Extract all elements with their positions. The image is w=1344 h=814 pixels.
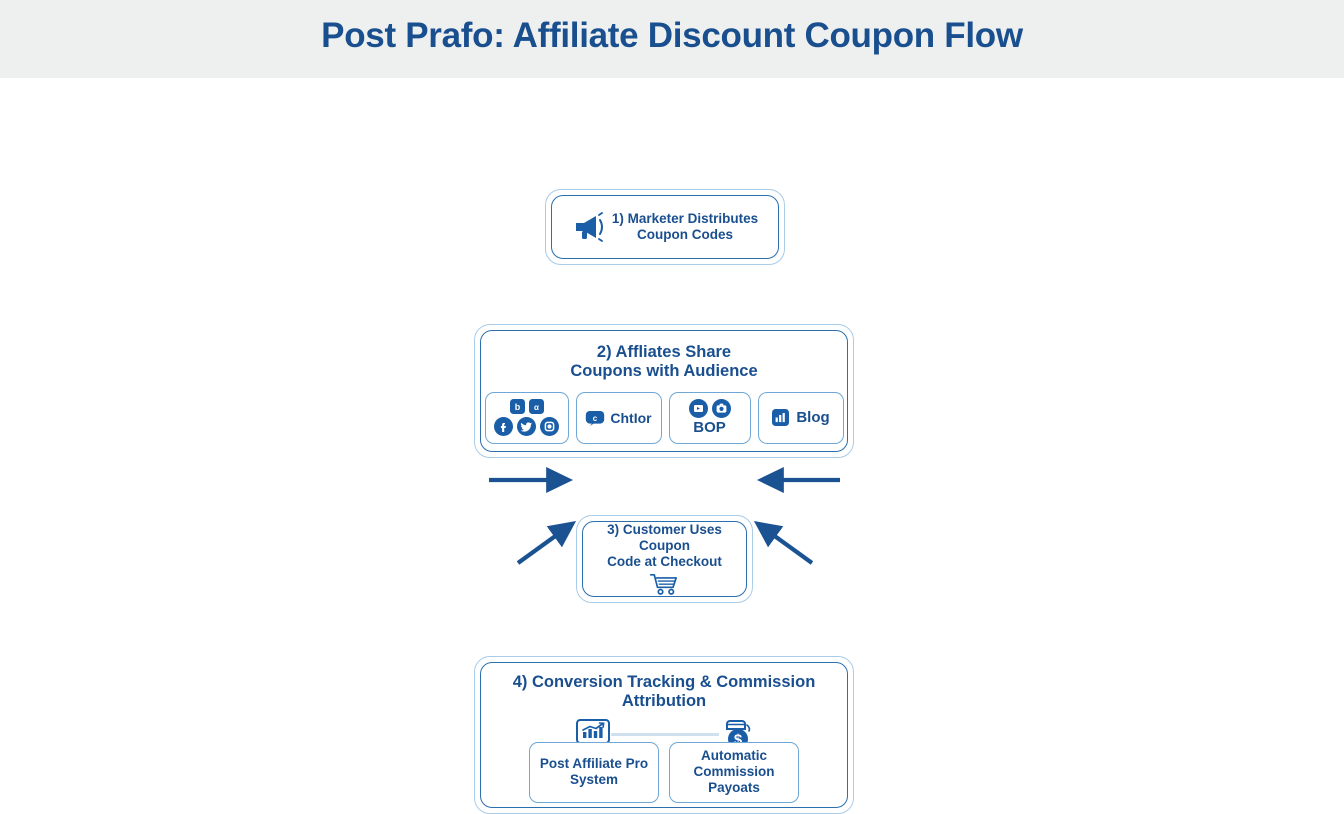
step2-line1: 2) Affliates Share: [570, 343, 757, 362]
channel-content-label: ChtIor: [610, 410, 651, 426]
step4-box-pap-system[interactable]: Post Affiliate Pro System: [529, 742, 659, 803]
channel-social-media[interactable]: b α: [485, 392, 569, 444]
svg-text:α: α: [534, 403, 539, 412]
step2-inner: 2) Affliates Share Coupons with Audience…: [480, 330, 848, 452]
twitter-icon: [517, 417, 536, 436]
step4-line2: Attribution: [513, 692, 816, 711]
megaphone-icon: [572, 212, 608, 242]
diagram-canvas: 1) Marketer Distributes Coupon Codes 2) …: [0, 78, 1344, 768]
step1-text: 1) Marketer Distributes Coupon Codes: [612, 211, 758, 243]
social-icon-row-bottom: [494, 417, 559, 436]
arrow-bottom-right-into-step3: [758, 524, 812, 563]
bop-icon-row: [689, 399, 731, 418]
channel-content[interactable]: c ChtIor: [576, 392, 662, 444]
step2-channel-row: b α: [485, 392, 844, 444]
step4-heading: 4) Conversion Tracking & Commission Attr…: [513, 673, 816, 712]
step4-connector-line: [611, 733, 719, 736]
step3-line1: 3) Customer Uses Coupon: [583, 522, 746, 554]
facebook-icon: [494, 417, 513, 436]
svg-text:b: b: [514, 402, 520, 412]
chart-document-icon: [771, 408, 790, 427]
step1-line1: 1) Marketer Distributes: [612, 211, 758, 227]
channel-bop[interactable]: BOP: [669, 392, 751, 444]
channel-blog[interactable]: Blog: [758, 392, 844, 444]
comment-icon: c: [585, 410, 605, 426]
social-icon-row-top: b α: [510, 399, 544, 414]
step4-box-commission-payouts[interactable]: Automatic Commission Payoats: [669, 742, 799, 803]
arrow-bottom-left-into-step3: [518, 524, 572, 563]
step4-node[interactable]: 4) Conversion Tracking & Commission Attr…: [474, 656, 854, 814]
step3-text: 3) Customer Uses Coupon Code at Checkout: [583, 522, 746, 570]
step1-node[interactable]: 1) Marketer Distributes Coupon Codes: [545, 189, 785, 265]
svg-text:c: c: [593, 414, 598, 423]
page-title: Post Prafo: Affiliate Discount Coupon Fl…: [0, 16, 1344, 56]
channel-blog-label: Blog: [796, 409, 829, 426]
step3-line2: Code at Checkout: [583, 554, 746, 570]
step2-line2: Coupons with Audience: [570, 362, 757, 381]
behance-icon: b: [510, 399, 525, 414]
camera-icon: [712, 399, 731, 418]
step2-heading: 2) Affliates Share Coupons with Audience: [570, 343, 757, 382]
dribbble-icon: α: [529, 399, 544, 414]
step3-inner: 3) Customer Uses Coupon Code at Checkout: [582, 521, 747, 597]
step1-line2: Coupon Codes: [612, 227, 758, 243]
shopping-cart-icon: [648, 573, 682, 596]
instagram-icon: [540, 417, 559, 436]
step2-node[interactable]: 2) Affliates Share Coupons with Audience…: [474, 324, 854, 458]
video-icon: [689, 399, 708, 418]
step1-inner: 1) Marketer Distributes Coupon Codes: [551, 195, 779, 259]
step4-inner: 4) Conversion Tracking & Commission Attr…: [480, 662, 848, 808]
step4-line1: 4) Conversion Tracking & Commission: [513, 673, 816, 692]
step3-node[interactable]: 3) Customer Uses Coupon Code at Checkout: [576, 515, 753, 603]
step4-box-row: Post Affiliate Pro System Automatic Comm…: [529, 742, 799, 803]
channel-bop-label: BOP: [693, 419, 726, 436]
